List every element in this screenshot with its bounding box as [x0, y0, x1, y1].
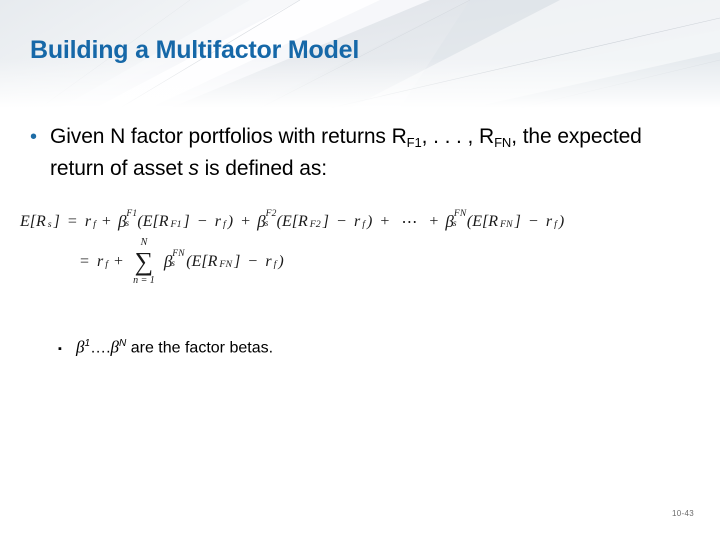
eq2-beta-subscript: s	[171, 259, 175, 269]
equation-line-1: E[Rs] = rf + β F1 s (E[RF1] − rf) + β F2…	[18, 212, 708, 232]
eq2-mid: ]	[234, 253, 240, 271]
bullet-text-segment-2: , . . . , R	[422, 125, 494, 148]
summation-lower-limit: n = 1	[133, 276, 155, 286]
bullet-dot-icon: •	[30, 122, 50, 152]
eq1-term1-rf: r	[215, 213, 221, 231]
eq2-rf2-sub: f	[274, 259, 277, 270]
slide-canvas: Building a Multifactor Model • Given N f…	[0, 0, 720, 540]
eq2-rf-sub: f	[105, 259, 108, 270]
eq1-equals: =	[68, 213, 77, 231]
bullet-text-segment-4: is defined as:	[199, 157, 327, 180]
eq1-term3-rf-sub: f	[554, 219, 557, 230]
eq1-beta-2-superscript: F2	[266, 209, 277, 219]
eq2-rf: r	[97, 253, 103, 271]
eq2-beta-superscript: FN	[172, 249, 185, 259]
eq1-term2-sub: F2	[310, 219, 321, 230]
eq1-beta-1-superscript: F1	[126, 209, 137, 219]
eq1-lhs-close: ]	[54, 213, 60, 231]
bullet-secondary-text: β1….βN are the factor betas.	[76, 334, 273, 358]
bullet-item-primary: • Given N factor portfolios with returns…	[30, 122, 680, 184]
eq2-minus: −	[248, 253, 257, 271]
eq1-term3-sub: FN	[500, 219, 513, 230]
subscript-fn: FN	[494, 135, 511, 150]
slide-number: 10-43	[672, 509, 694, 518]
eq1-term3-close: )	[559, 213, 564, 231]
beta-symbol-2: β	[111, 337, 119, 356]
italic-asset-symbol: s	[188, 157, 198, 180]
eq1-term2-rf: r	[354, 213, 360, 231]
bullet-text-segment-1: Given N factor portfolios with returns R	[50, 125, 407, 148]
eq2-beta-term: β FN s	[164, 252, 172, 272]
eq1-beta-3-superscript: FN	[454, 209, 467, 219]
eq1-plus-1: +	[102, 213, 111, 231]
eq1-minus-1: −	[198, 213, 207, 231]
eq1-term1-open: (E[R	[137, 213, 168, 231]
eq1-plus-3: +	[380, 213, 389, 231]
eq1-term2-mid: ]	[323, 213, 329, 231]
eq2-plus: +	[114, 253, 123, 271]
eq1-beta-term-1: β F1 s	[118, 212, 126, 232]
eq2-equals: =	[80, 253, 89, 271]
eq1-lhs-sub: s	[48, 219, 52, 230]
eq1-plus-4: +	[429, 213, 438, 231]
eq1-beta-1-subscript: s	[125, 219, 129, 229]
beta-description-tail: are the factor betas.	[126, 339, 273, 356]
eq1-beta-2-subscript: s	[265, 219, 269, 229]
summation-operator: N ∑ n = 1	[133, 238, 155, 286]
eq2-close: )	[278, 253, 283, 271]
eq1-beta-term-2: β F2 s	[257, 212, 265, 232]
eq1-minus-3: −	[529, 213, 538, 231]
slide-body: • Given N factor portfolios with returns…	[0, 108, 720, 540]
eq2-sub: FN	[219, 259, 232, 270]
equation-block: E[Rs] = rf + β F1 s (E[RF1] − rf) + β F2…	[18, 212, 708, 286]
beta-list-ellipsis: ….	[90, 339, 110, 356]
eq1-term3-mid: ]	[515, 213, 521, 231]
equation-line-2: = rf + N ∑ n = 1 β FN s (E[RFN] − rf)	[18, 238, 708, 286]
sigma-icon: ∑	[135, 249, 154, 275]
subscript-f1: F1	[407, 135, 422, 150]
eq1-term1-close: )	[228, 213, 233, 231]
eq1-term2-close: )	[367, 213, 372, 231]
eq1-rf: r	[85, 213, 91, 231]
page-title: Building a Multifactor Model	[30, 36, 359, 65]
eq1-lhs: E[R	[20, 213, 46, 231]
eq1-term2-open: (E[R	[277, 213, 308, 231]
eq1-term3-rf: r	[546, 213, 552, 231]
square-bullet-icon: ▪	[58, 339, 76, 359]
eq1-beta-term-3: β FN s	[445, 212, 453, 232]
eq1-minus-2: −	[337, 213, 346, 231]
bullet-primary-text: Given N factor portfolios with returns R…	[50, 122, 680, 184]
eq1-plus-2: +	[241, 213, 250, 231]
eq1-term1-rf-sub: f	[223, 219, 226, 230]
eq1-ellipsis: ⋯	[401, 212, 417, 232]
eq1-term3-open: (E[R	[467, 213, 498, 231]
eq1-term2-rf-sub: f	[362, 219, 365, 230]
eq1-beta-3-subscript: s	[453, 219, 457, 229]
eq2-rf2: r	[265, 253, 271, 271]
eq1-term1-sub: F1	[171, 219, 182, 230]
eq1-rf-sub: f	[93, 219, 96, 230]
eq1-term1-mid: ]	[184, 213, 190, 231]
bullet-item-secondary: ▪ β1….βN are the factor betas.	[58, 334, 273, 359]
eq2-open: (E[R	[186, 253, 217, 271]
